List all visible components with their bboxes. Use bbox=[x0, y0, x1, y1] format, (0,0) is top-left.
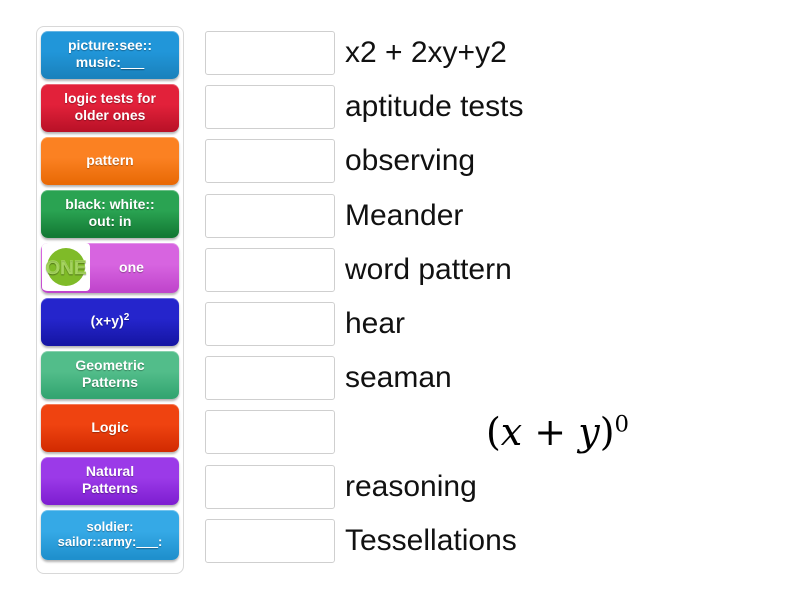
answer-row: seaman bbox=[205, 351, 790, 405]
dropzone-5[interactable] bbox=[205, 248, 335, 292]
answer-row: hear bbox=[205, 297, 790, 351]
answer-row: reasoning bbox=[205, 460, 790, 514]
draggable-tile-7[interactable]: GeometricPatterns bbox=[41, 351, 179, 399]
tile-label: black: white::out: in bbox=[65, 196, 154, 229]
dropzone-2[interactable] bbox=[205, 85, 335, 129]
answer-row: (x + y)0 bbox=[205, 405, 790, 459]
answer-label-9: reasoning bbox=[345, 472, 477, 502]
answer-label-4: Meander bbox=[345, 201, 463, 231]
tile-blank: ___ bbox=[121, 54, 144, 70]
answer-row: word pattern bbox=[205, 243, 790, 297]
draggable-tile-4[interactable]: black: white::out: in bbox=[41, 190, 179, 238]
draggable-tile-2[interactable]: logic tests forolder ones bbox=[41, 84, 179, 132]
draggable-tile-3[interactable]: pattern bbox=[41, 137, 179, 185]
answer-label-8-math: (x + y)0 bbox=[345, 413, 790, 451]
tile-blank: ___ bbox=[136, 534, 158, 549]
draggable-tiles-panel: picture:see::music:___ logic tests forol… bbox=[36, 26, 184, 574]
answer-label-7: seaman bbox=[345, 363, 452, 393]
dropzone-8[interactable] bbox=[205, 410, 335, 454]
tile-label: one bbox=[90, 259, 179, 276]
tile-label: NaturalPatterns bbox=[82, 463, 138, 496]
dropzone-1[interactable] bbox=[205, 31, 335, 75]
tile-exponent: 2 bbox=[124, 312, 130, 323]
draggable-tile-6[interactable]: (x+y)2 bbox=[41, 298, 179, 346]
draggable-tile-9[interactable]: NaturalPatterns bbox=[41, 457, 179, 505]
draggable-tile-1[interactable]: picture:see::music:___ bbox=[41, 31, 179, 79]
tile-label: (x+y)2 bbox=[91, 312, 130, 329]
svg-text:ONE: ONE bbox=[45, 258, 86, 279]
answer-row: x2 + 2xy+y2 bbox=[205, 26, 790, 80]
draggable-tile-5[interactable]: ONE one bbox=[41, 243, 179, 293]
tile-label: picture:see::music:___ bbox=[68, 37, 152, 70]
tile-label: Logic bbox=[91, 419, 128, 436]
draggable-tile-10[interactable]: soldier:sailor::army:___: bbox=[41, 510, 179, 560]
dropzone-7[interactable] bbox=[205, 356, 335, 400]
one-picture-thumbnail: ONE bbox=[42, 243, 90, 291]
answers-panel: x2 + 2xy+y2 aptitude tests observing Mea… bbox=[205, 26, 790, 568]
answer-row: Meander bbox=[205, 189, 790, 243]
dropzone-3[interactable] bbox=[205, 139, 335, 183]
tile-label: GeometricPatterns bbox=[75, 357, 144, 390]
dropzone-9[interactable] bbox=[205, 465, 335, 509]
answer-label-10: Tessellations bbox=[345, 526, 517, 556]
answer-label-2: aptitude tests bbox=[345, 92, 523, 122]
tile-label: logic tests forolder ones bbox=[64, 90, 156, 123]
answer-label-3: observing bbox=[345, 146, 475, 176]
tile-label: soldier:sailor::army:___: bbox=[58, 519, 163, 550]
dropzone-4[interactable] bbox=[205, 194, 335, 238]
answer-row: observing bbox=[205, 134, 790, 188]
answer-label-6: hear bbox=[345, 309, 405, 339]
answer-row: aptitude tests bbox=[205, 80, 790, 134]
tile-label: pattern bbox=[86, 152, 133, 169]
math-exponent: 0 bbox=[615, 412, 630, 438]
answer-label-1: x2 + 2xy+y2 bbox=[345, 38, 507, 68]
dropzone-10[interactable] bbox=[205, 519, 335, 563]
answer-label-5: word pattern bbox=[345, 255, 512, 285]
answer-row: Tessellations bbox=[205, 514, 790, 568]
dropzone-6[interactable] bbox=[205, 302, 335, 346]
draggable-tile-8[interactable]: Logic bbox=[41, 404, 179, 452]
